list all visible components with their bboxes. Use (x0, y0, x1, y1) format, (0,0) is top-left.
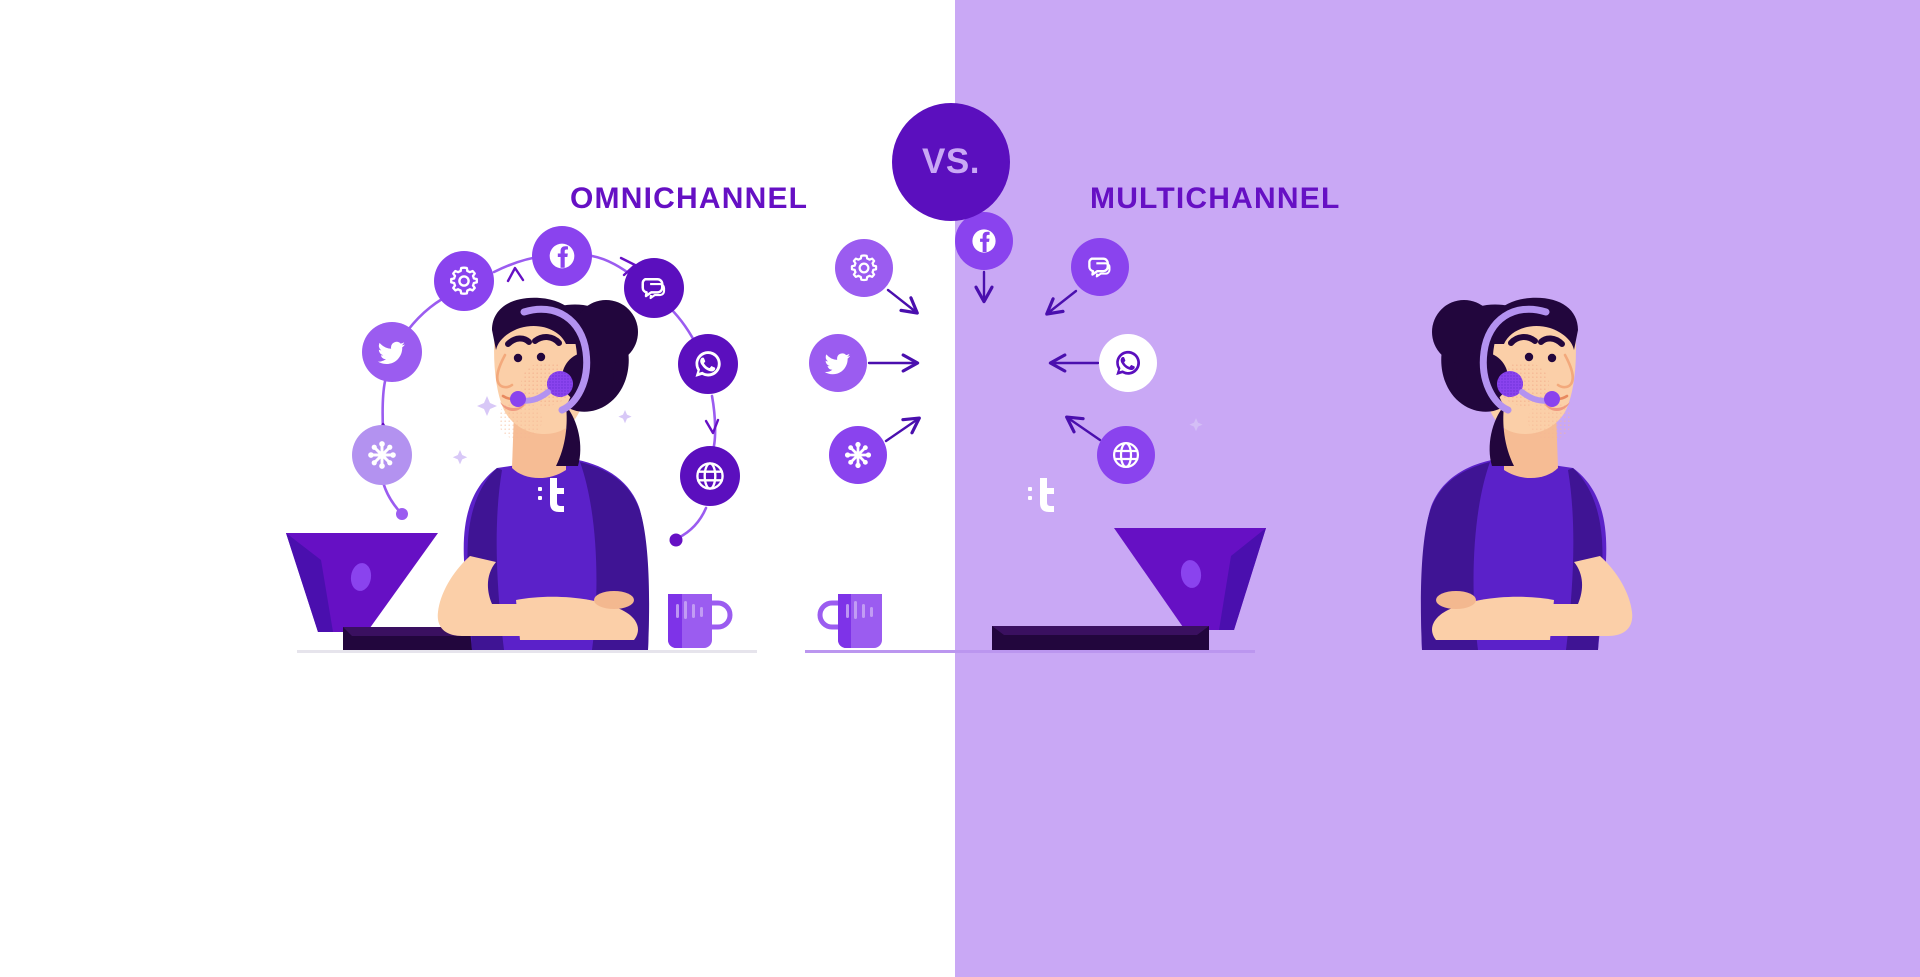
icon-facebook-right (955, 212, 1013, 270)
multichannel-title: MULTICHANNEL (1090, 182, 1340, 216)
agent-left (438, 298, 649, 650)
flow-end-dot (670, 534, 683, 547)
mug-right (820, 594, 882, 648)
mug-left (668, 594, 730, 648)
icon-whatsapp-left (678, 334, 738, 394)
illustration-canvas: OMNICHANNEL MULTICHANNEL VS. (0, 0, 1920, 977)
vs-badge-label: VS. (922, 142, 980, 182)
omnichannel-scene (286, 226, 757, 653)
laptop-right (992, 528, 1266, 650)
flow-start-dot (396, 508, 408, 520)
desk-line-right (805, 650, 1255, 653)
multichannel-icons (809, 212, 1157, 484)
icon-twitter-left (362, 322, 422, 382)
icon-settings-left (434, 251, 494, 311)
icon-share-right (829, 426, 887, 484)
desk-line-left (297, 650, 757, 653)
icon-chat-left (624, 258, 684, 318)
shirt-logo-right (1028, 478, 1054, 512)
icon-whatsapp-right (1099, 334, 1157, 392)
agent-right (1421, 298, 1632, 650)
icon-twitter-right (809, 334, 867, 392)
multichannel-scene (805, 212, 1632, 653)
vs-badge: VS. (892, 103, 1010, 221)
icon-globe-right (1097, 426, 1155, 484)
icon-settings-right (835, 239, 893, 297)
icon-facebook-left (532, 226, 592, 286)
icon-share-left (352, 425, 412, 485)
icon-globe-left (680, 446, 740, 506)
icon-chat-right (1071, 238, 1129, 296)
multichannel-arrows (869, 272, 1100, 441)
omnichannel-title: OMNICHANNEL (570, 182, 808, 216)
